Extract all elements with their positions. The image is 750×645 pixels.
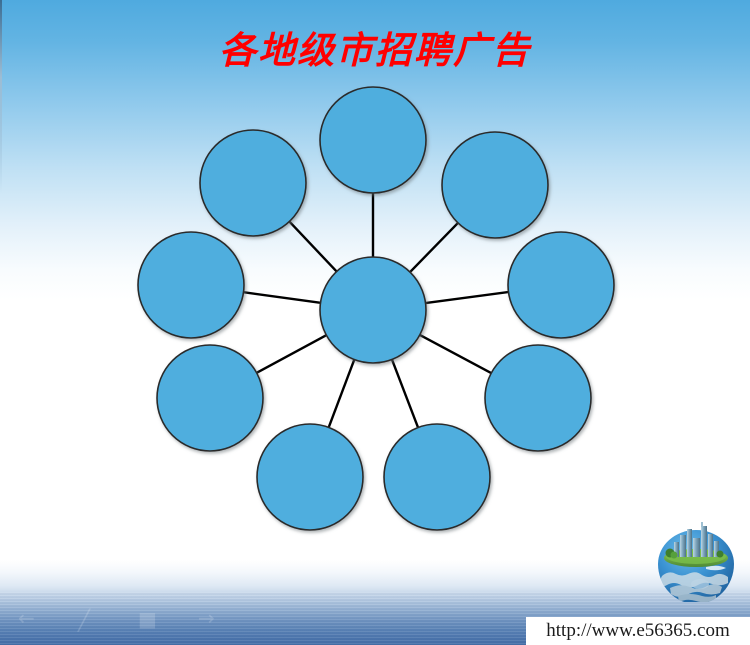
radial-diagram-svg [0, 0, 750, 645]
slide-canvas: ← ╱ ■ → 各地级市招聘广告 [0, 0, 750, 645]
center-node-shape[interactable] [320, 257, 426, 363]
node-right[interactable] [508, 232, 614, 338]
spoke-to-node-right [425, 292, 510, 303]
node-left[interactable] [138, 232, 244, 338]
node-lower-right[interactable] [485, 345, 591, 451]
spoke-to-node-lower-left [256, 335, 327, 374]
node-bottom-left-shape[interactable] [257, 424, 363, 530]
spoke-to-node-left [243, 292, 322, 303]
node-left-shape[interactable] [138, 232, 244, 338]
spoke-to-node-bottom-left [328, 359, 354, 429]
spoke-to-node-upper-right [409, 222, 458, 273]
radial-diagram [0, 0, 750, 645]
node-upper-right[interactable] [442, 132, 548, 238]
node-lower-left-shape[interactable] [157, 345, 263, 451]
node-lower-right-shape[interactable] [485, 345, 591, 451]
node-top[interactable] [320, 87, 426, 193]
node-bottom-right-shape[interactable] [384, 424, 490, 530]
spoke-to-node-upper-left [289, 221, 338, 272]
node-top-shape[interactable] [320, 87, 426, 193]
node-upper-right-shape[interactable] [442, 132, 548, 238]
node-right-shape[interactable] [508, 232, 614, 338]
watermark-url-text: http://www.e56365.com [546, 619, 729, 643]
node-lower-left[interactable] [157, 345, 263, 451]
watermark-url-box: http://www.e56365.com [526, 617, 750, 645]
center-node[interactable] [320, 257, 426, 363]
nodes-group [138, 87, 614, 530]
node-upper-left[interactable] [200, 130, 306, 236]
node-bottom-left[interactable] [257, 424, 363, 530]
globe-city-image [648, 518, 744, 602]
globe-city-icon [648, 518, 744, 602]
spoke-to-node-bottom-right [392, 359, 419, 429]
node-upper-left-shape[interactable] [200, 130, 306, 236]
node-bottom-right[interactable] [384, 424, 490, 530]
city-skyline [674, 522, 719, 557]
spoke-to-node-lower-right [419, 334, 492, 373]
